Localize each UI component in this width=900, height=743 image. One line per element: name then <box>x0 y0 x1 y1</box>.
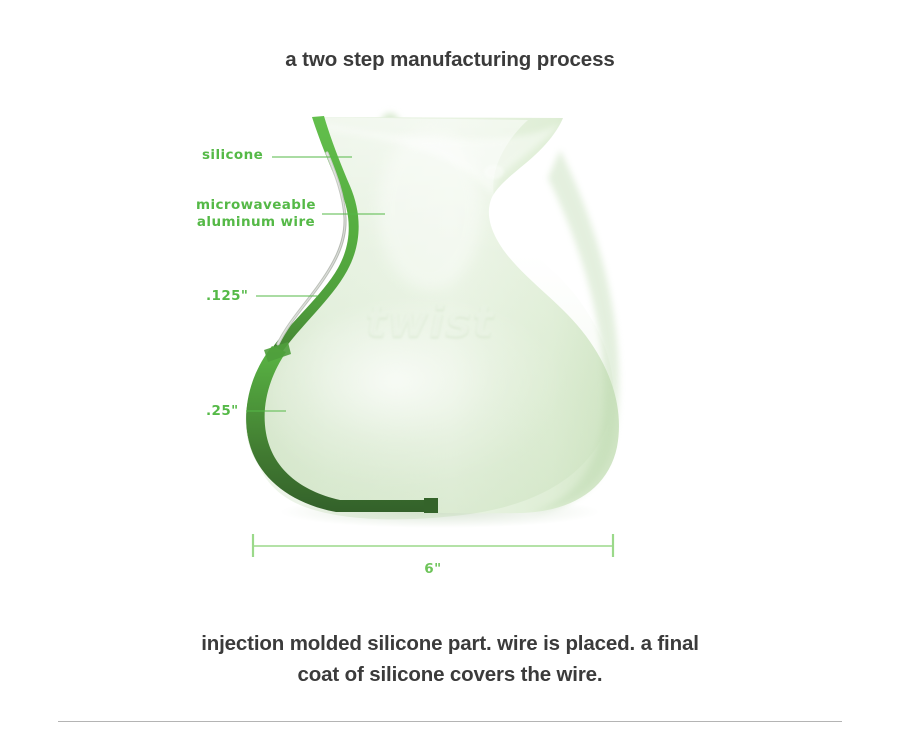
annotation-wire-line1: microwaveable <box>196 197 316 213</box>
annotation-thickness-inner: .125" <box>206 288 248 305</box>
dimension-label-width: 6" <box>0 561 866 577</box>
caption-line-2: coat of silicone covers the wire. <box>0 659 900 690</box>
annotation-aluminum-wire: microwaveable aluminum wire <box>196 197 316 231</box>
twist-logo-emboss: twist twist <box>366 297 496 350</box>
dimension-line-width <box>253 534 613 557</box>
annotation-silicone: silicone <box>202 147 263 164</box>
page-caption: injection molded silicone part. wire is … <box>0 628 900 690</box>
footer-divider <box>58 721 842 722</box>
twist-logo-text-highlight: twist <box>366 297 496 348</box>
caption-line-1: injection molded silicone part. wire is … <box>0 628 900 659</box>
annotation-wire-line2: aluminum wire <box>197 214 315 230</box>
annotation-thickness-outer: .25" <box>206 403 239 420</box>
manufacturing-diagram-page: a two step manufacturing process <box>0 0 900 743</box>
